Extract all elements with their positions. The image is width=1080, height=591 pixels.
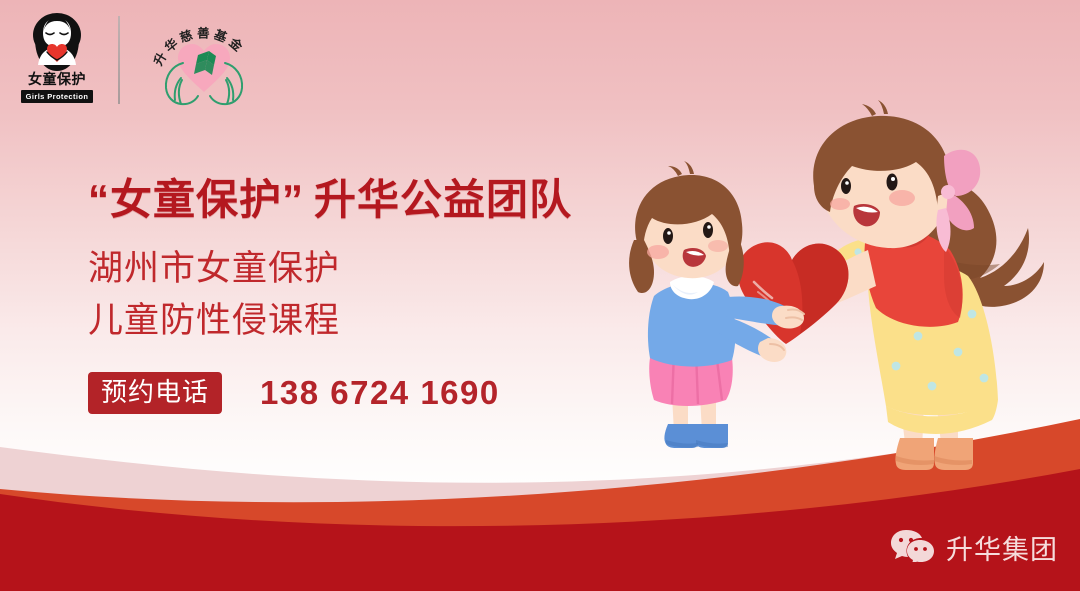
- headline-rest: 升华公益团队: [314, 176, 572, 223]
- subtitle-line-1: 湖州市女童保护: [88, 248, 340, 290]
- logo-girls-protection[interactable]: 女童保护 Girls Protection: [16, 11, 98, 107]
- page-title: “女童保护”升华公益团队: [88, 176, 572, 224]
- small-girl-figure: [629, 161, 804, 448]
- wechat-account-name: 升华集团: [946, 528, 1058, 567]
- logo-divider: [118, 16, 120, 104]
- headline-quoted: “女童保护”: [88, 176, 304, 223]
- poster-canvas: 女童保护 Girls Protection 升华慈善基金: [0, 0, 1080, 591]
- girl-with-heart-icon: [25, 11, 89, 73]
- wechat-account[interactable]: 升华集团: [890, 528, 1058, 567]
- subtitle-line-2: 儿童防性侵课程: [88, 300, 340, 342]
- appointment-phone-badge: 预约电话: [88, 372, 222, 414]
- logo-charity-foundation[interactable]: 升华慈善基金: [145, 8, 263, 112]
- logo-name-cn: 女童保护: [16, 71, 98, 87]
- phone-number[interactable]: 138 6724 1690: [260, 374, 500, 412]
- contact-row: 预约电话 138 6724 1690: [88, 372, 500, 414]
- logo-name-en: Girls Protection: [21, 90, 93, 103]
- wechat-icon: [890, 528, 934, 567]
- hands-holding-heart-icon: 升华慈善基金: [145, 8, 263, 112]
- two-girls-sharing-heart-illustration: [600, 100, 1080, 500]
- logo-bar: 女童保护 Girls Protection 升华慈善基金: [0, 0, 620, 120]
